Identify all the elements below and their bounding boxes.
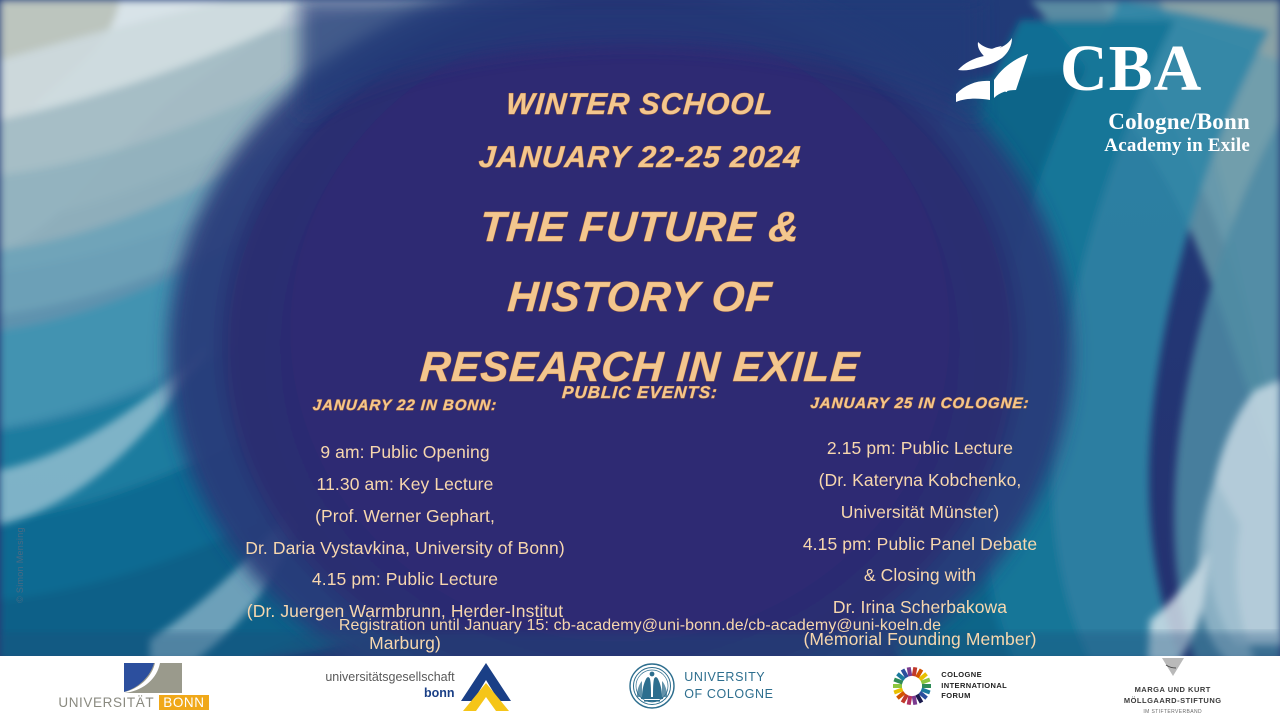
moellgaard-line1: MARGA UND KURT: [1124, 685, 1222, 696]
uni-bonn-text-2: BONN: [159, 695, 208, 710]
cif-line1: COLOGNE: [941, 670, 1007, 681]
ugb-chevron-icon: [459, 661, 513, 711]
title-line2: History of: [0, 269, 1280, 325]
ugb-line1: universitätsgesellschaft: [325, 670, 454, 686]
moellgaard-line3: IM STIFTERVERBAND: [1124, 709, 1222, 715]
cologne-seal-icon: [629, 663, 675, 709]
poster: © Simon Mensing CBA Cologne/Bonn Academy…: [0, 0, 1280, 716]
logo-universitaetsgesellschaft-bonn: universitätsgesellschaft bonn: [325, 660, 512, 712]
cologne-line1: UNIVERSITY: [684, 669, 773, 686]
cologne-line2: OF COLOGNE: [684, 686, 773, 703]
ugb-line2: bonn: [325, 686, 454, 702]
cif-line2: INTERNATIONAL: [941, 681, 1007, 692]
kicker-line2: January 22-25 2024: [0, 131, 1280, 184]
photo-credit: © Simon Mensing: [15, 505, 25, 625]
registration-line: Registration until January 15: cb-academ…: [0, 617, 1280, 635]
title-line1: The Future &: [0, 199, 1280, 255]
cif-line3: FORUM: [941, 691, 1007, 702]
logo-university-of-cologne: UNIVERSITY OF COLOGNE: [629, 660, 773, 712]
column-heading-bonn: January 22 in Bonn:: [189, 398, 620, 413]
logo-universitaet-bonn: UNIVERSITÄT BONN: [58, 660, 208, 712]
column-heading-cologne: January 25 in Cologne:: [719, 396, 1120, 411]
headline-block: Winter School January 22-25 2024 The Fut…: [0, 78, 1280, 396]
uni-bonn-mark-icon: [124, 663, 182, 693]
kicker-line1: Winter School: [0, 78, 1280, 131]
moellgaard-line2: MÖLLGAARD-STIFTUNG: [1124, 696, 1222, 707]
uni-bonn-text-1: UNIVERSITÄT: [58, 695, 159, 710]
cif-ring-icon: [890, 664, 934, 708]
moellgaard-mark-icon: [1161, 657, 1185, 677]
logo-cologne-international-forum: COLOGNE INTERNATIONAL FORUM: [890, 660, 1007, 712]
sponsor-footer: UNIVERSITÄT BONN universitätsgesellschaf…: [0, 656, 1280, 716]
logo-moellgaard-stiftung: MARGA UND KURT MÖLLGAARD-STIFTUNG IM STI…: [1124, 660, 1222, 712]
